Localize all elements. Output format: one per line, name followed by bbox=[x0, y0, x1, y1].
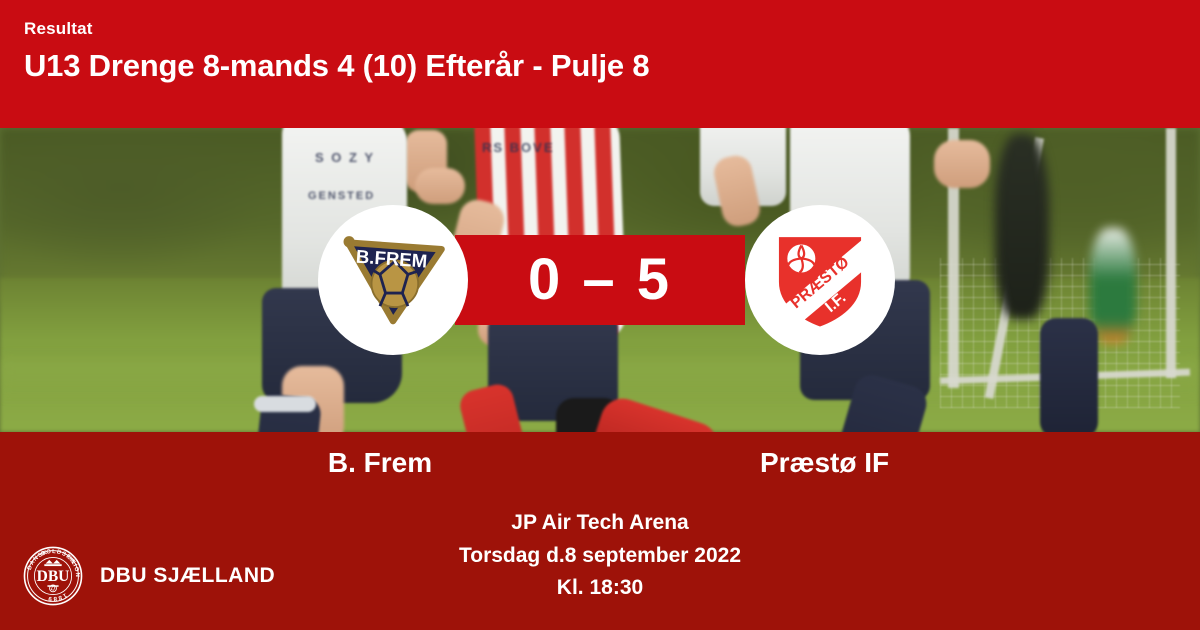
score-band: 0 – 5 bbox=[455, 235, 745, 325]
praesto-if-crest-icon: PRÆSTØ I.F. bbox=[764, 224, 876, 336]
goal-post-right bbox=[1166, 128, 1176, 378]
header-kicker: Resultat bbox=[24, 20, 1200, 37]
score-value: 0 – 5 bbox=[528, 251, 672, 309]
b-frem-crest-icon: B.FREM bbox=[337, 224, 449, 336]
home-team-name: B. Frem bbox=[0, 446, 760, 480]
player-left-hand bbox=[415, 168, 465, 204]
jersey-sponsor-centre: RS BOVE bbox=[482, 140, 555, 155]
player-far-right-sock bbox=[1040, 318, 1098, 432]
dbu-label: DBU SJÆLLAND bbox=[100, 564, 275, 588]
home-team-logo: B.FREM bbox=[318, 205, 468, 355]
match-details: JP Air Tech Arena Torsdag d.8 september … bbox=[300, 507, 900, 605]
jersey-sponsor-top: S O Z Y bbox=[315, 150, 375, 165]
away-team-name: Præstø IF bbox=[760, 446, 1200, 480]
jersey-sponsor-bottom: GENSTED bbox=[308, 190, 375, 202]
player-left-sock-cuff bbox=[254, 396, 316, 412]
match-photo: S O Z Y GENSTED RS BOVE 0 – 5 bbox=[0, 128, 1200, 432]
dbu-branding: DANSK BOLDSPIL UNION 1889 DBU DBU SJÆLLA… bbox=[22, 545, 275, 607]
result-poster: Resultat U13 Drenge 8-mands 4 (10) Efter… bbox=[0, 0, 1200, 630]
dbu-seal-monogram: DBU bbox=[37, 568, 70, 585]
background-player-dark bbox=[995, 134, 1049, 319]
match-time: Kl. 18:30 bbox=[300, 572, 900, 605]
dbu-seal-icon: DANSK BOLDSPIL UNION 1889 DBU bbox=[22, 545, 84, 607]
poster-header: Resultat U13 Drenge 8-mands 4 (10) Efter… bbox=[0, 0, 1200, 128]
background-player-green bbox=[1090, 228, 1136, 343]
away-team-logo: PRÆSTØ I.F. bbox=[745, 205, 895, 355]
match-date: Torsdag d.8 september 2022 bbox=[300, 540, 900, 573]
team-names-row: B. Frem Præstø IF bbox=[0, 446, 1200, 480]
player-right-hand bbox=[934, 140, 990, 188]
page-title: U13 Drenge 8-mands 4 (10) Efterår - Pulj… bbox=[24, 50, 1200, 83]
match-venue: JP Air Tech Arena bbox=[300, 507, 900, 540]
